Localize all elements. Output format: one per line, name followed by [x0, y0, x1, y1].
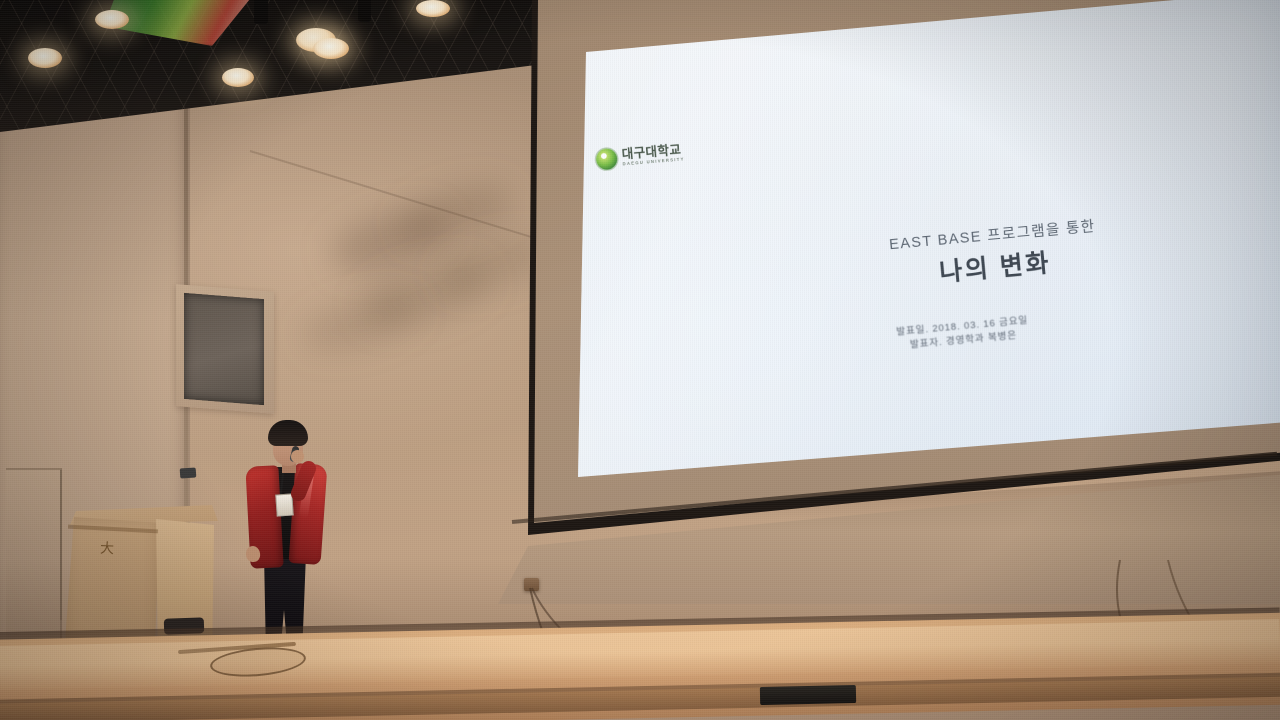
podium-microphone-mount [180, 467, 197, 478]
slide-meta-block: 발표일. 2018. 03. 16 금요일 발표자. 경영학과 복병은 [797, 305, 1128, 364]
podium-emblem-icon: 大 [100, 541, 117, 560]
ceiling-spotlight [313, 38, 349, 59]
ceiling-spotlight [95, 10, 129, 29]
presenter-hair [268, 420, 308, 446]
university-logo: 대구대학교 DAEGU UNIVERSITY [595, 134, 709, 177]
floor-speaker [760, 685, 856, 705]
ceiling-spotlight [416, 0, 450, 17]
ceiling-spotlight [222, 68, 254, 87]
university-logo-text: 대구대학교 DAEGU UNIVERSITY [621, 143, 685, 167]
daegu-university-emblem-icon [595, 147, 618, 170]
presenter-right-hand [291, 450, 304, 463]
wall-vent-panel [184, 293, 264, 405]
ceiling-spotlight [28, 48, 62, 68]
spotlight-housing [254, 0, 268, 24]
slide-title-block: EAST BASE 프로그램을 통한 나의 변화 [792, 206, 1196, 301]
auditorium-presentation-photo: 대구대학교 DAEGU UNIVERSITY EAST BASE 프로그램을 통… [0, 0, 1280, 720]
slide-content-layer: 대구대학교 DAEGU UNIVERSITY EAST BASE 프로그램을 통… [498, 0, 1280, 550]
spotlight-housing [358, 0, 371, 22]
